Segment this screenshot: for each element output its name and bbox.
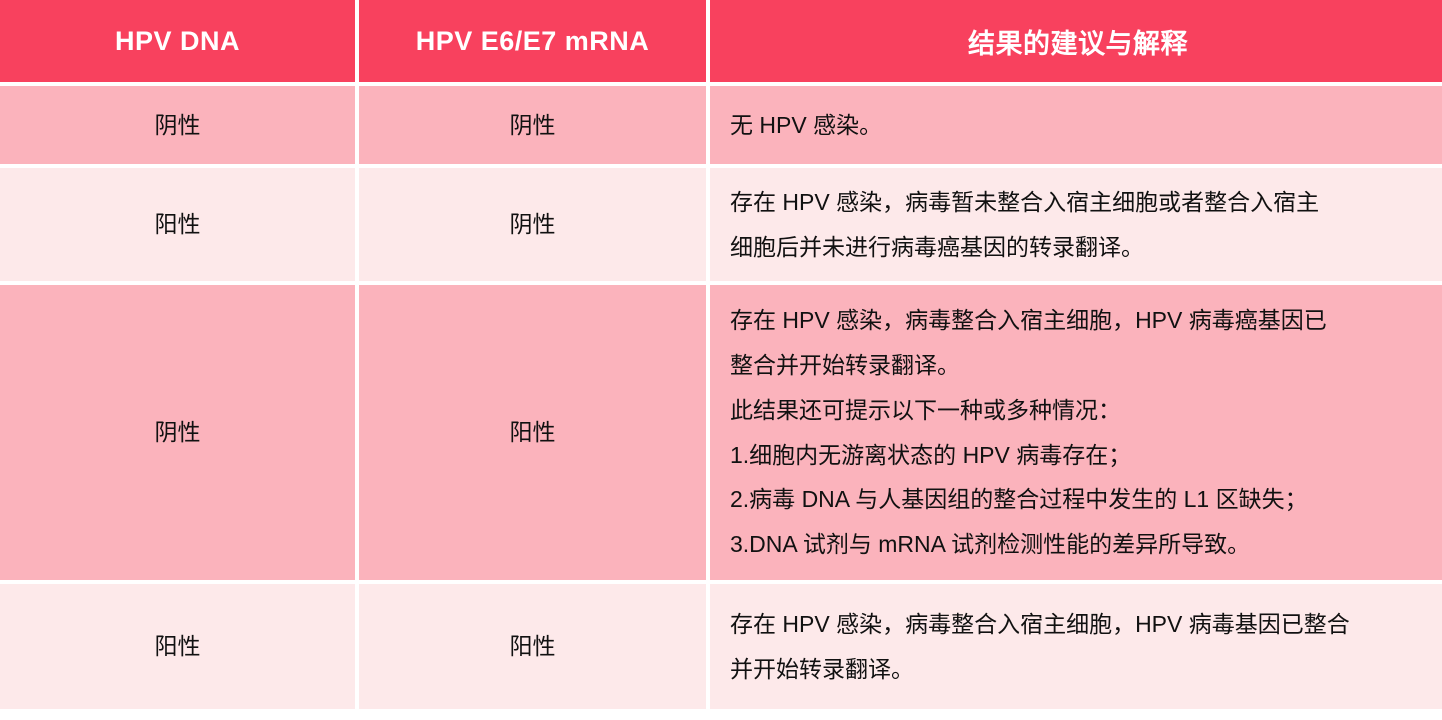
table-row: 阴性 阴性 无 HPV 感染。 [0, 86, 1442, 164]
interpretation-line: 并开始转录翻译。 [730, 647, 1428, 692]
interpretation-line: 无 HPV 感染。 [730, 103, 1428, 148]
table-body: 阴性 阴性 无 HPV 感染。 阳性 阴性 存在 HPV 感染，病毒暂未整合入宿… [0, 86, 1442, 709]
column-header-interpretation-label: 结果的建议与解释 [968, 22, 1188, 61]
interpretation-line: 整合并开始转录翻译。 [730, 343, 1428, 388]
table-row: 阴性 阳性 存在 HPV 感染，病毒整合入宿主细胞，HPV 病毒癌基因已 整合并… [0, 285, 1442, 580]
interpretation-line: 存在 HPV 感染，病毒整合入宿主细胞，HPV 病毒癌基因已 [730, 298, 1428, 343]
column-header-hpv-dna-label: HPV DNA [115, 26, 240, 57]
cell-hpv-dna: 阴性 [0, 285, 355, 580]
cell-interpretation: 存在 HPV 感染，病毒整合入宿主细胞，HPV 病毒癌基因已 整合并开始转录翻译… [710, 285, 1442, 580]
table-header-row: HPV DNA HPV E6/E7 mRNA 结果的建议与解释 [0, 0, 1442, 82]
interpretation-line: 此结果还可提示以下一种或多种情况： [730, 388, 1428, 433]
interpretation-line: 存在 HPV 感染，病毒整合入宿主细胞，HPV 病毒基因已整合 [730, 602, 1428, 647]
column-header-hpv-dna: HPV DNA [0, 0, 355, 82]
cell-hpv-mrna: 阴性 [359, 86, 706, 164]
table-row: 阳性 阳性 存在 HPV 感染，病毒整合入宿主细胞，HPV 病毒基因已整合 并开… [0, 584, 1442, 709]
cell-hpv-mrna: 阳性 [359, 584, 706, 709]
column-header-hpv-mrna: HPV E6/E7 mRNA [359, 0, 706, 82]
cell-hpv-dna: 阳性 [0, 168, 355, 281]
cell-hpv-mrna: 阳性 [359, 285, 706, 580]
interpretation-line: 细胞后并未进行病毒癌基因的转录翻译。 [730, 225, 1428, 270]
cell-interpretation: 存在 HPV 感染，病毒暂未整合入宿主细胞或者整合入宿主 细胞后并未进行病毒癌基… [710, 168, 1442, 281]
interpretation-list-item: 1.细胞内无游离状态的 HPV 病毒存在； [730, 433, 1428, 478]
table-row: 阳性 阴性 存在 HPV 感染，病毒暂未整合入宿主细胞或者整合入宿主 细胞后并未… [0, 168, 1442, 281]
cell-interpretation: 无 HPV 感染。 [710, 86, 1442, 164]
interpretation-line: 存在 HPV 感染，病毒暂未整合入宿主细胞或者整合入宿主 [730, 180, 1428, 225]
interpretation-list-item: 2.病毒 DNA 与人基因组的整合过程中发生的 L1 区缺失； [730, 477, 1428, 522]
cell-hpv-mrna: 阴性 [359, 168, 706, 281]
column-header-hpv-mrna-label: HPV E6/E7 mRNA [416, 26, 650, 57]
cell-interpretation: 存在 HPV 感染，病毒整合入宿主细胞，HPV 病毒基因已整合 并开始转录翻译。 [710, 584, 1442, 709]
cell-hpv-dna: 阳性 [0, 584, 355, 709]
column-header-interpretation: 结果的建议与解释 [710, 0, 1442, 82]
cell-hpv-dna: 阴性 [0, 86, 355, 164]
table-header: HPV DNA HPV E6/E7 mRNA 结果的建议与解释 [0, 0, 1442, 82]
interpretation-list-item: 3.DNA 试剂与 mRNA 试剂检测性能的差异所导致。 [730, 522, 1428, 567]
hpv-result-table: HPV DNA HPV E6/E7 mRNA 结果的建议与解释 阴性 阴性 无 … [0, 0, 1442, 713]
